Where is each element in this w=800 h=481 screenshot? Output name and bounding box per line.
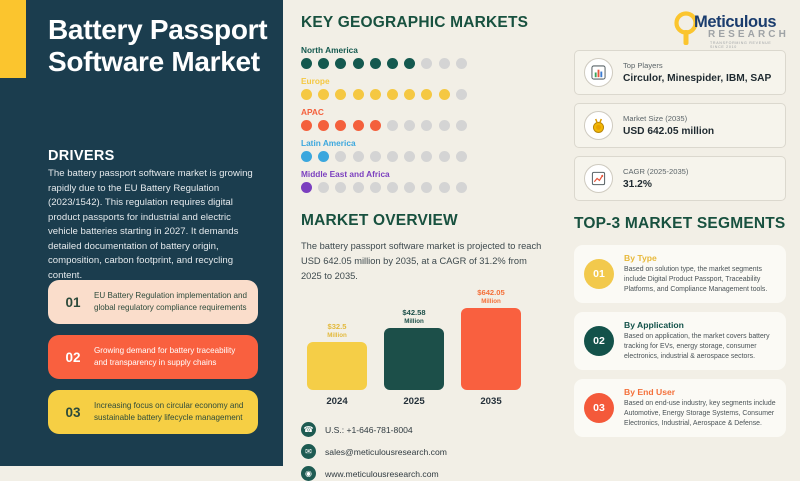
geo-row: Latin America [301, 138, 566, 162]
segment-title: By End User [624, 387, 776, 397]
geo-dot-empty [404, 151, 415, 162]
geo-dot-filled [318, 58, 329, 69]
geo-dot-filled [421, 89, 432, 100]
info-card-value: 31.2% [623, 179, 776, 190]
chart-bar-value-label: $642.05Million [477, 289, 504, 305]
segment-description: Based on application, the market covers … [624, 332, 776, 362]
geo-row: Middle East and Africa [301, 169, 566, 193]
brand-logo: Meticulous RESEARCH TRANSFORMING REVENUE… [574, 10, 786, 50]
contact-text[interactable]: sales@meticulousresearch.com [325, 447, 447, 457]
geo-dots [301, 182, 566, 193]
geo-region-label: Middle East and Africa [301, 169, 566, 179]
geo-dot-filled [370, 120, 381, 131]
segment-title: By Application [624, 320, 776, 330]
accent-bar [0, 0, 26, 78]
geo-dot-filled [301, 182, 312, 193]
chart-x-tick: 2025 [384, 396, 444, 407]
geo-region-label: North America [301, 45, 566, 55]
segment-number: 01 [584, 259, 614, 289]
geo-region-label: APAC [301, 107, 566, 117]
geo-dot-filled [353, 120, 364, 131]
page-title: Battery Passport Software Market [48, 14, 273, 79]
chart-bar-unit: Million [327, 332, 347, 339]
email-icon: ✉ [301, 444, 316, 459]
geo-dot-filled [318, 120, 329, 131]
chart-bars: $32.5Million$42.58Million$642.05Million [301, 298, 551, 390]
geo-row: Europe [301, 76, 566, 100]
chart-x-axis: 202420252035 [301, 396, 551, 407]
infographic-page: Battery Passport Software Market DRIVERS… [0, 0, 800, 466]
left-panel: Battery Passport Software Market DRIVERS… [0, 0, 283, 466]
contact-row[interactable]: ☎U.S.: +1-646-781-8004 [301, 422, 566, 437]
geo-region-label: Europe [301, 76, 566, 86]
geo-dot-empty [370, 182, 381, 193]
geo-dot-empty [456, 58, 467, 69]
market-overview-section: MARKET OVERVIEW The battery passport sof… [301, 212, 566, 410]
geo-region-label: Latin America [301, 138, 566, 148]
segment-description: Based on end-use industry, key segments … [624, 399, 776, 429]
geo-dot-empty [421, 120, 432, 131]
segment-card-list: 01By TypeBased on solution type, the mar… [574, 245, 786, 437]
geo-dot-empty [456, 182, 467, 193]
geo-dot-empty [421, 151, 432, 162]
geo-dot-empty [335, 182, 346, 193]
contact-row[interactable]: ✉sales@meticulousresearch.com [301, 444, 566, 459]
geo-dot-empty [387, 151, 398, 162]
chart-bar-unit: Million [402, 318, 425, 325]
geo-dot-empty [404, 120, 415, 131]
chart-bar-value-label: $32.5Million [327, 323, 347, 339]
geo-dots [301, 120, 566, 131]
geo-dot-empty [421, 182, 432, 193]
driver-number: 03 [58, 405, 88, 420]
geo-dot-filled [335, 120, 346, 131]
info-card-body: Top PlayersCirculor, Minespider, IBM, SA… [623, 61, 776, 84]
segment-body: By TypeBased on solution type, the marke… [624, 253, 776, 295]
info-card: Market Size (2035)USD 642.05 million [574, 103, 786, 148]
geo-dot-empty [421, 58, 432, 69]
chart-bar [307, 342, 367, 390]
geo-row: North America [301, 45, 566, 69]
segment-card-01: 01By TypeBased on solution type, the mar… [574, 245, 786, 303]
geo-dot-filled [301, 151, 312, 162]
segment-body: By ApplicationBased on application, the … [624, 320, 776, 362]
geo-dot-filled [370, 89, 381, 100]
driver-number: 02 [58, 350, 88, 365]
info-card-value: Circulor, Minespider, IBM, SAP [623, 73, 776, 84]
geo-dot-empty [439, 58, 450, 69]
phone-icon: ☎ [301, 422, 316, 437]
geo-dot-empty [439, 120, 450, 131]
drivers-heading: DRIVERS [48, 148, 115, 164]
geo-dot-filled [301, 58, 312, 69]
geo-section-title: KEY GEOGRAPHIC MARKETS [301, 14, 566, 32]
geo-dot-filled [439, 89, 450, 100]
contact-row[interactable]: ◉www.meticulousresearch.com [301, 466, 566, 481]
info-card-value: USD 642.05 million [623, 126, 776, 137]
driver-number: 01 [58, 295, 88, 310]
growth-chart-icon [584, 164, 613, 193]
driver-text: Increasing focus on circular economy and… [94, 400, 248, 423]
geo-dot-empty [387, 182, 398, 193]
chart-bar-column: $42.58Million [384, 309, 444, 390]
geo-dot-filled [335, 58, 346, 69]
geo-dot-empty [387, 120, 398, 131]
chart-bar-column: $32.5Million [307, 323, 367, 390]
chart-bar-value-label: $42.58Million [402, 309, 425, 325]
globe-icon: ◉ [301, 466, 316, 481]
segment-card-03: 03By End UserBased on end-use industry, … [574, 379, 786, 437]
chart-x-tick: 2024 [307, 396, 367, 407]
geo-dot-empty [318, 182, 329, 193]
contact-text[interactable]: www.meticulousresearch.com [325, 469, 439, 479]
info-card: CAGR (2025-2035)31.2% [574, 156, 786, 201]
geo-dot-filled [370, 58, 381, 69]
geo-dot-empty [456, 89, 467, 100]
driver-card-02: 02Growing demand for battery traceabilit… [48, 335, 258, 379]
geo-dots [301, 89, 566, 100]
info-card-label: Market Size (2035) [623, 114, 776, 123]
geo-dot-filled [335, 89, 346, 100]
chart-bar-unit: Million [477, 298, 504, 305]
chart-bar [384, 328, 444, 390]
segment-body: By End UserBased on end-use industry, ke… [624, 387, 776, 429]
driver-card-03: 03Increasing focus on circular economy a… [48, 390, 258, 434]
driver-list: 01EU Battery Regulation implementation a… [48, 280, 258, 445]
bar-chart-icon [584, 58, 613, 87]
segment-number: 02 [584, 326, 614, 356]
segment-number: 03 [584, 393, 614, 423]
market-overview-title: MARKET OVERVIEW [301, 212, 566, 230]
geo-dot-filled [404, 89, 415, 100]
driver-card-01: 01EU Battery Regulation implementation a… [48, 280, 258, 324]
segment-card-02: 02By ApplicationBased on application, th… [574, 312, 786, 370]
info-card-body: CAGR (2025-2035)31.2% [623, 167, 776, 190]
segments-section: TOP-3 MARKET SEGMENTS 01By TypeBased on … [574, 215, 786, 437]
geo-dots [301, 151, 566, 162]
info-card-body: Market Size (2035)USD 642.05 million [623, 114, 776, 137]
market-size-bar-chart: $32.5Million$42.58Million$642.05Million … [301, 298, 551, 410]
chart-x-tick: 2035 [461, 396, 521, 407]
geo-dot-empty [456, 120, 467, 131]
logo-subtext: RESEARCH [708, 29, 789, 40]
geo-dot-filled [318, 151, 329, 162]
info-card-label: CAGR (2025-2035) [623, 167, 776, 176]
geo-dot-filled [301, 120, 312, 131]
geo-dots [301, 58, 566, 69]
driver-text: EU Battery Regulation implementation and… [94, 290, 248, 313]
chart-bar [461, 308, 521, 390]
market-overview-description: The battery passport software market is … [301, 239, 549, 284]
geo-dot-filled [318, 89, 329, 100]
geo-dot-empty [456, 151, 467, 162]
geo-dot-filled [387, 58, 398, 69]
right-column: Meticulous RESEARCH TRANSFORMING REVENUE… [566, 0, 800, 466]
segment-description: Based on solution type, the market segme… [624, 265, 776, 295]
geo-dot-filled [301, 89, 312, 100]
geo-row: APAC [301, 107, 566, 131]
driver-text: Growing demand for battery traceability … [94, 345, 248, 368]
geo-dot-empty [353, 182, 364, 193]
geo-dot-empty [404, 182, 415, 193]
geo-dot-matrix: North AmericaEuropeAPACLatin AmericaMidd… [301, 45, 566, 193]
geo-dot-empty [370, 151, 381, 162]
geo-dot-filled [404, 58, 415, 69]
medal-icon [584, 111, 613, 140]
geo-dot-empty [353, 151, 364, 162]
drivers-description: The battery passport software market is … [48, 167, 256, 284]
info-card-list: Top PlayersCirculor, Minespider, IBM, SA… [574, 50, 786, 201]
chart-bar-column: $642.05Million [461, 289, 521, 390]
contact-text[interactable]: U.S.: +1-646-781-8004 [325, 425, 413, 435]
segments-title: TOP-3 MARKET SEGMENTS [574, 215, 786, 233]
geo-dot-empty [335, 151, 346, 162]
middle-column: KEY GEOGRAPHIC MARKETS North AmericaEuro… [283, 0, 566, 466]
geo-dot-filled [353, 58, 364, 69]
info-card-label: Top Players [623, 61, 776, 70]
contact-list: ☎U.S.: +1-646-781-8004✉sales@meticulousr… [301, 422, 566, 481]
geo-dot-filled [387, 89, 398, 100]
info-card: Top PlayersCirculor, Minespider, IBM, SA… [574, 50, 786, 95]
geo-dot-empty [439, 182, 450, 193]
geo-dot-empty [439, 151, 450, 162]
geo-dot-filled [353, 89, 364, 100]
segment-title: By Type [624, 253, 776, 263]
logo-tagline: TRANSFORMING REVENUE SINCE 2010 [710, 41, 786, 49]
